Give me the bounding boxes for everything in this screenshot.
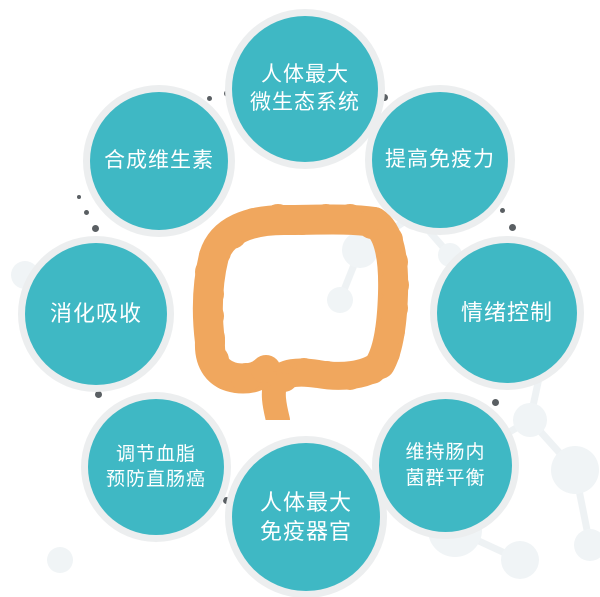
colon-illustration <box>188 190 418 420</box>
bubble-digestion-absorption[interactable]: 消化吸收 <box>25 243 167 385</box>
bubble-line: 调节血脂 <box>116 442 196 467</box>
bubble-gut-flora-balance[interactable]: 维持肠内 菌群平衡 <box>379 399 512 532</box>
bubble-largest-microecosystem[interactable]: 人体最大 微生态系统 <box>232 16 378 162</box>
colon-svg <box>188 190 418 420</box>
bubble-synthesize-vitamins[interactable]: 合成维生素 <box>90 92 228 230</box>
bubble-boost-immunity[interactable]: 提高免疫力 <box>372 92 508 228</box>
bubble-line: 人体最大 <box>261 61 349 89</box>
bubble-line: 维持肠内 <box>405 440 485 465</box>
bubble-line: 免疫器官 <box>260 517 352 546</box>
bubble-line: 消化吸收 <box>50 299 142 328</box>
bubble-line: 微生态系统 <box>250 89 360 117</box>
bubble-regulate-blood-lipids[interactable]: 调节血脂 预防直肠癌 <box>88 399 224 535</box>
bubble-line: 合成维生素 <box>104 147 214 175</box>
bubble-line: 菌群平衡 <box>405 466 485 491</box>
bubble-mood-control[interactable]: 情绪控制 <box>437 243 577 383</box>
bubble-line: 预防直肠癌 <box>106 467 206 492</box>
bubble-largest-immune-organ[interactable]: 人体最大 免疫器官 <box>232 443 380 591</box>
bubble-line: 情绪控制 <box>461 298 553 327</box>
bubble-line: 提高免疫力 <box>385 146 495 174</box>
intestine-health-infographic: 人体最大 微生态系统 提高免疫力 情绪控制 维持肠内 菌群平衡 人体最大 免疫器… <box>0 0 600 597</box>
bubble-line: 人体最大 <box>260 488 352 517</box>
